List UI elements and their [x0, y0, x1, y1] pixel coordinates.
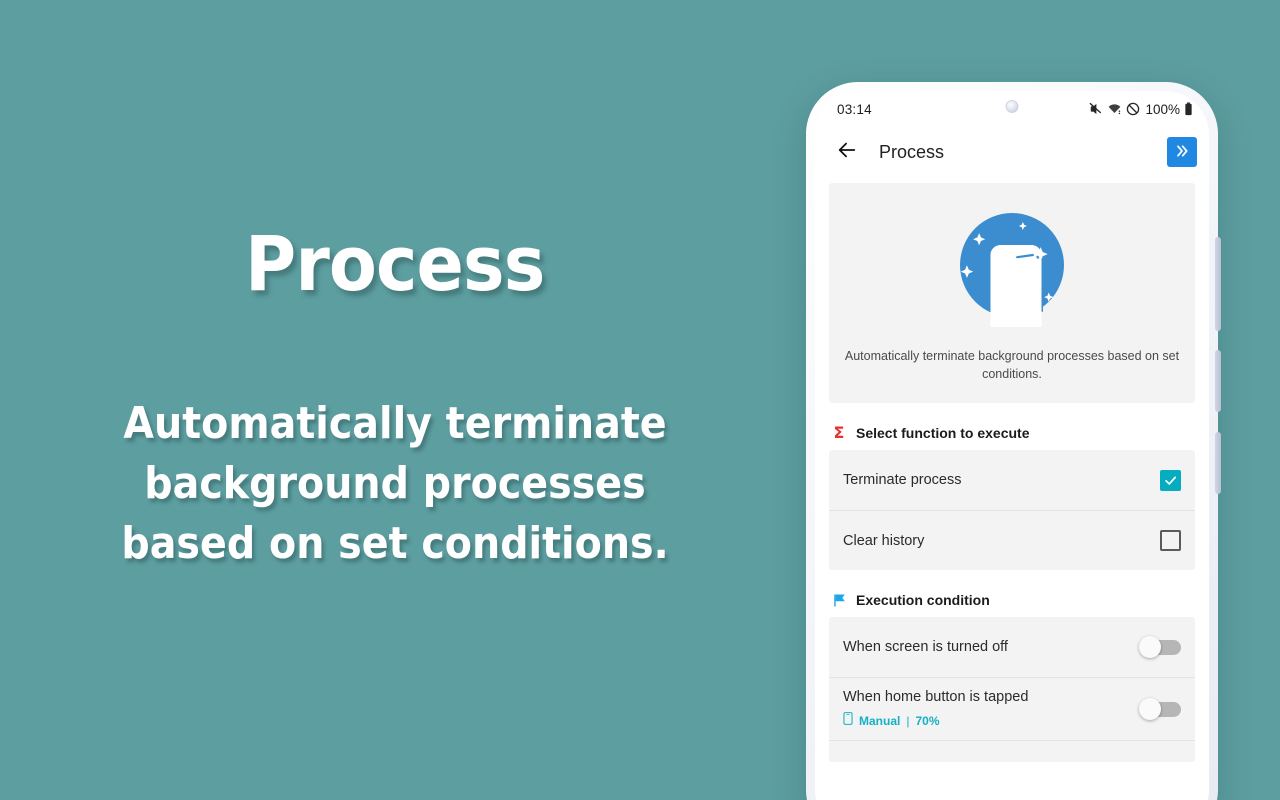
status-bar: 03:14 100% [815, 91, 1209, 127]
screenshot-root: Process Automatically terminate backgrou… [0, 0, 1280, 800]
list-item-subtitle: Manual | 70% [843, 712, 1139, 730]
list-item[interactable]: Terminate process [829, 450, 1195, 510]
hero-card: Automatically terminate background proce… [829, 183, 1195, 403]
mute-icon [1088, 102, 1103, 116]
phone-volume-up-button[interactable] [1215, 350, 1221, 412]
section-header-select-function: Σ Select function to execute [817, 403, 1207, 450]
section-title: Select function to execute [856, 425, 1029, 441]
list-item[interactable]: When home button is tapped Manual | 70% [829, 677, 1195, 740]
flag-icon [831, 592, 847, 608]
row-content: Clear history [843, 532, 1160, 550]
wifi-icon [1107, 102, 1122, 116]
arrow-left-icon [836, 139, 858, 166]
list-item-label: Terminate process [843, 471, 1160, 489]
subtitle-separator: | [906, 714, 909, 728]
next-step-button[interactable] [1167, 137, 1197, 167]
clear-history-checkbox[interactable] [1160, 530, 1181, 551]
phone-side-button-1[interactable] [1215, 237, 1221, 331]
back-button[interactable] [829, 134, 865, 170]
home-button-tapped-toggle[interactable] [1139, 701, 1181, 717]
status-bar-time: 03:14 [837, 102, 872, 117]
list-item-label: Clear history [843, 532, 1160, 550]
row-content: When home button is tapped Manual | 70% [843, 688, 1139, 730]
row-content: Terminate process [843, 471, 1160, 489]
section-header-execution-condition: Execution condition [817, 570, 1207, 617]
do-not-disturb-icon [1126, 102, 1140, 116]
select-function-card: Terminate process Clear history [829, 450, 1195, 570]
section-title: Execution condition [856, 592, 990, 608]
phone-sparkle-illustration [948, 205, 1076, 333]
phone-icon [843, 712, 853, 730]
list-item[interactable]: Clear history [829, 510, 1195, 570]
app-bar-title: Process [879, 142, 1167, 163]
terminate-process-checkbox[interactable] [1160, 470, 1181, 491]
app-bar: Process [815, 127, 1209, 177]
page-title: Process [245, 226, 544, 302]
status-bar-icons: 100% [1088, 102, 1193, 117]
row-content: When screen is turned off [843, 638, 1139, 656]
scroll-content[interactable]: Automatically terminate background proce… [815, 177, 1209, 800]
double-chevron-right-icon [1174, 143, 1190, 162]
promo-subtitle: Automatically terminate background proce… [89, 394, 701, 573]
promo-panel: Process Automatically terminate backgrou… [0, 0, 790, 800]
phone-mockup: 03:14 100% [806, 82, 1218, 800]
battery-icon [1184, 102, 1193, 116]
subtitle-mode: Manual [859, 714, 900, 728]
list-item-label: When home button is tapped [843, 688, 1139, 706]
subtitle-value: 70% [915, 714, 939, 728]
front-camera-icon [1006, 100, 1019, 113]
phone-volume-down-button[interactable] [1215, 432, 1221, 494]
screen-off-toggle[interactable] [1139, 639, 1181, 655]
check-icon [1163, 473, 1178, 488]
hero-caption: Automatically terminate background proce… [841, 347, 1183, 383]
list-item-label: When screen is turned off [843, 638, 1139, 656]
battery-percent-label: 100% [1145, 102, 1180, 117]
phone-body: 03:14 100% [806, 82, 1218, 800]
list-item[interactable] [829, 740, 1195, 762]
phone-screen: 03:14 100% [815, 91, 1209, 800]
execution-condition-card: When screen is turned off When home butt… [829, 617, 1195, 762]
sigma-icon: Σ [831, 425, 847, 441]
list-item[interactable]: When screen is turned off [829, 617, 1195, 677]
